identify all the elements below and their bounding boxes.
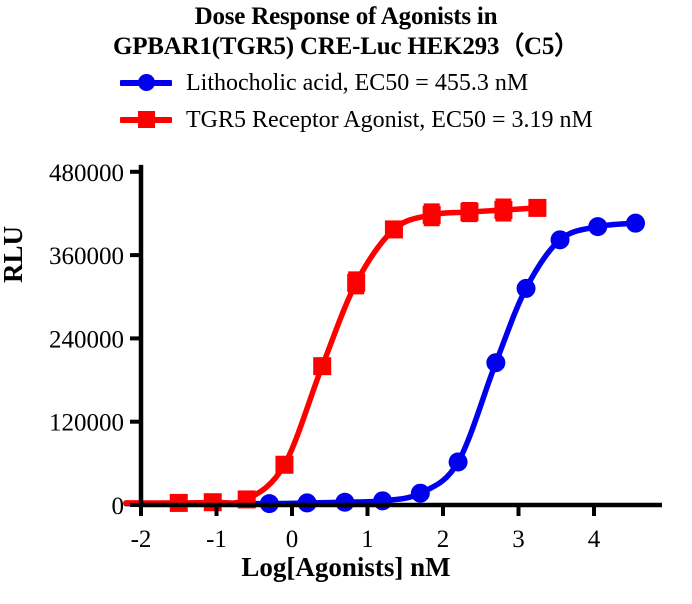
square-marker-icon [423,206,441,224]
square-marker-icon [347,274,365,292]
series-line [126,208,537,503]
axis-lines [141,165,662,505]
square-marker-icon [138,111,155,128]
series-lithocholic-acid [126,214,645,513]
chart-title: Dose Response of Agonists in GPBAR1(TGR5… [0,2,692,62]
circle-marker-icon [588,217,607,236]
circle-marker-icon [449,452,468,471]
square-marker-icon [275,456,293,474]
legend-label-tgr5-receptor-agonist: TGR5 Receptor Agonist, EC50 = 3.19 nM [186,107,593,133]
chart-title-line-1: Dose Response of Agonists in [0,2,692,32]
chart-legend: Lithocholic acid, EC50 = 455.3 nM TGR5 R… [0,64,692,138]
circle-marker-icon [138,74,155,91]
legend-item-lithocholic-acid[interactable]: Lithocholic acid, EC50 = 455.3 nM [0,64,692,101]
axis-layer [130,165,662,516]
square-marker-icon [204,493,222,511]
chart-title-line-2: GPBAR1(TGR5) CRE-Luc HEK293（C5） [0,32,692,62]
x-axis-title: Log[Agonists] nM [0,552,692,583]
legend-item-tgr5-receptor-agonist[interactable]: TGR5 Receptor Agonist, EC50 = 3.19 nM [0,101,692,138]
series-line [126,223,636,503]
circle-marker-icon [411,484,430,503]
x-tick-label: 2 [437,526,450,550]
circle-marker-icon [335,493,354,512]
square-marker-icon [494,201,512,219]
square-marker-icon [528,199,546,217]
chart-figure: Dose Response of Agonists in GPBAR1(TGR5… [0,0,692,604]
series-tgr5-receptor-agonist [126,199,546,512]
y-tick-label: 120000 [49,410,124,437]
x-tick-label: -2 [131,526,152,550]
series-layer [126,199,645,513]
legend-key-tgr5-receptor-agonist [118,110,174,130]
circle-marker-icon [486,353,505,372]
y-tick-label: 240000 [49,326,124,353]
legend-label-lithocholic-acid: Lithocholic acid, EC50 = 455.3 nM [186,70,528,96]
circle-marker-icon [551,230,570,249]
x-tick-label: -1 [206,526,227,550]
x-tick-label: 4 [588,526,601,550]
x-tick-label: 0 [286,526,299,550]
y-axis-title: RLU [0,226,29,283]
legend-key-lithocholic-acid [118,73,174,93]
square-marker-icon [460,203,478,221]
x-tick-label: 3 [512,526,525,550]
square-marker-icon [313,357,331,375]
y-tick-label: 480000 [49,160,124,187]
circle-marker-icon [373,491,392,510]
plot-area: -2-1012340120000240000360000480000 [0,150,692,550]
circle-marker-icon [626,214,645,233]
circle-marker-icon [517,279,536,298]
y-tick-label: 0 [112,493,125,520]
square-marker-icon [385,220,403,238]
y-tick-label: 360000 [49,243,124,270]
x-tick-label: 1 [361,526,374,550]
